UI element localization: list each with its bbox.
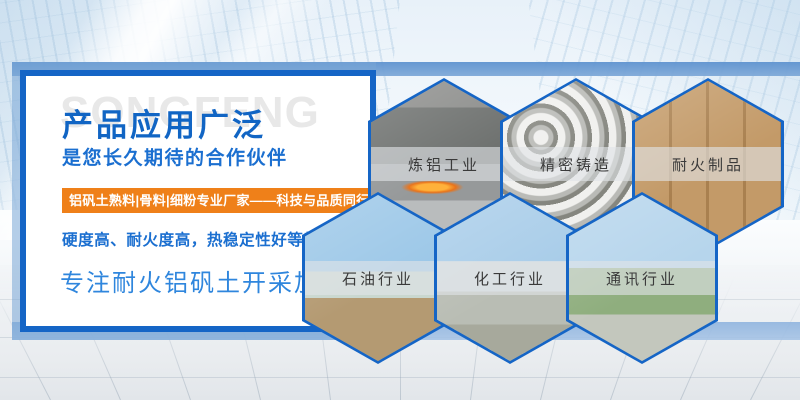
hexagon-label-band: 精密铸造 (503, 147, 649, 181)
hexagon-label-band: 石油行业 (305, 261, 451, 295)
hexagon-label: 耐火制品 (672, 154, 744, 175)
hexagon-label-band: 耐火制品 (635, 147, 781, 181)
hexagon-label-band: 炼铝工业 (371, 147, 517, 181)
hexagon-label: 石油行业 (342, 268, 414, 289)
promo-banner: SONGFENG 产品应用广泛 是您长久期待的合作伙伴 铝矾土熟料|骨料|细粉专… (0, 0, 800, 400)
industry-hexagon-grid: 炼铝工业精密铸造耐火制品石油行业化工行业通讯行业 (0, 0, 800, 400)
hexagon-label-band: 化工行业 (437, 261, 583, 295)
hexagon-label: 炼铝工业 (408, 154, 480, 175)
hexagon-label-band: 通讯行业 (569, 261, 715, 295)
hexagon-label: 化工行业 (474, 268, 546, 289)
hexagon-label: 精密铸造 (540, 154, 612, 175)
hexagon-label: 通讯行业 (606, 268, 678, 289)
